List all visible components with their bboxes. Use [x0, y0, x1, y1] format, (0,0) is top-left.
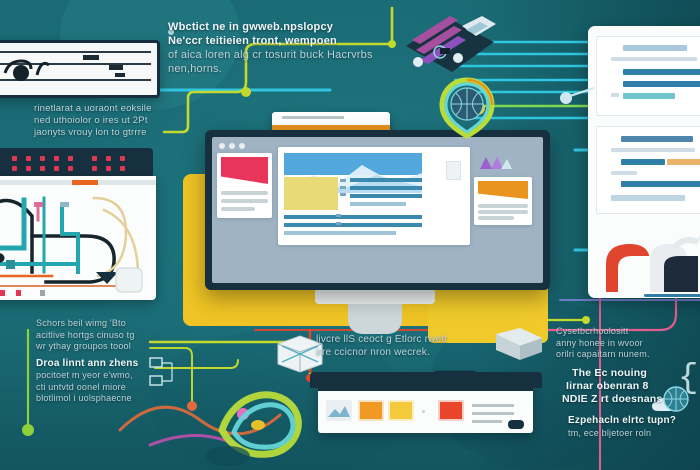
- yellow-tile[interactable]: [388, 400, 414, 421]
- callout-footer: tm, ece bljetoer roln: [568, 428, 700, 440]
- thumbnail-strip-shadow: [310, 372, 542, 388]
- callout-footer: Ezpehacln elrtc tupn?: [568, 415, 700, 428]
- callout-body: anny honee in wvoor: [556, 338, 700, 350]
- monitor-neck: [348, 300, 402, 334]
- screen-right-card[interactable]: [474, 177, 532, 225]
- callout-body: ned uthoiolor o ires ut 2Pt: [34, 115, 184, 127]
- report-card-bottom[interactable]: [596, 126, 700, 214]
- callout-body: acitlive hortgs cinuso tg: [36, 330, 166, 342]
- callout-body: rinetlarat a uoraont eoksile: [34, 103, 184, 115]
- screen-main-document[interactable]: [278, 147, 470, 245]
- mouse-icon: [508, 418, 526, 430]
- callout-body: blotlimol i uolsphaecne: [36, 393, 166, 405]
- circuit-server-icon: [396, 4, 504, 78]
- window-dot[interactable]: [219, 143, 225, 149]
- callout-body: orilri capaitarn nunem.: [556, 349, 700, 361]
- callout-lower-right: Cysetbcrhoolositt anny honee in wvoor or…: [556, 326, 700, 439]
- illustration-canvas: { Wbctict ne in gwweb.npslopcy Ne'ccr te…: [0, 0, 700, 470]
- callout-heading: Wbctict ne in gwweb.npslopcy: [168, 20, 378, 34]
- globe-pin-icon[interactable]: [436, 76, 498, 140]
- callout-top-center: Wbctict ne in gwweb.npslopcy Ne'ccr teit…: [168, 20, 378, 76]
- callout-body: irre ccicnor nron wecrek.: [316, 347, 516, 360]
- report-panel[interactable]: [588, 26, 700, 298]
- monitor-screen[interactable]: [212, 137, 543, 283]
- desktop-monitor[interactable]: [205, 130, 550, 290]
- monitor-stand: [315, 288, 435, 304]
- callout-body: Schors beil wimg 'Bto: [36, 318, 166, 330]
- antenna-icon: [556, 84, 596, 110]
- callout-center-bottom: livcre llS ceoct g Etlorc rwett irre cci…: [316, 334, 516, 360]
- screen-left-card[interactable]: [217, 153, 272, 218]
- circuit-board-diagram[interactable]: [0, 176, 156, 300]
- report-card-top[interactable]: [596, 36, 700, 116]
- callout-body: Cysetbcrhoolositt: [556, 326, 700, 338]
- callout-upper-left: rinetlarat a uoraont eoksile ned uthoiol…: [34, 103, 184, 139]
- callout-heading: Iirnar obenran 8: [566, 380, 700, 393]
- callout-lower-left: Schors beil wimg 'Bto acitlive hortgs ci…: [36, 318, 166, 405]
- orange-tile[interactable]: [358, 400, 384, 421]
- document-outline-card[interactable]: [0, 40, 160, 98]
- red-tile[interactable]: [438, 400, 464, 421]
- callout-body: wr ythay groupos toool: [36, 341, 166, 353]
- callout-heading: Droa linnt ann zhens: [36, 358, 166, 371]
- callout-heading: NDIE Z rt doesnans: [562, 393, 700, 406]
- callout-heading: Ne'ccr teitieien tront, wempoen: [168, 34, 378, 48]
- handshake-graphic: [588, 218, 700, 302]
- callout-body: pocitoet m yeor e'wmo,: [36, 370, 166, 382]
- callout-body: jaonyts vrouy lon to gtrrre: [34, 127, 184, 139]
- image-tile[interactable]: [326, 400, 352, 421]
- callout-body: of aica loren alg cr tosurit buck Hacrvr…: [168, 48, 378, 62]
- window-dot[interactable]: [229, 143, 235, 149]
- callout-heading: The Ec nouing: [572, 367, 700, 380]
- callout-body: nen,horns.: [168, 62, 378, 76]
- window-dot[interactable]: [239, 143, 245, 149]
- callout-body: livcre llS ceoct g Etlorc rwett: [316, 334, 516, 347]
- callout-body: cti untvtd oonel miore: [36, 382, 166, 394]
- window-traffic-lights[interactable]: [219, 143, 245, 149]
- status-led-strip: [0, 148, 153, 178]
